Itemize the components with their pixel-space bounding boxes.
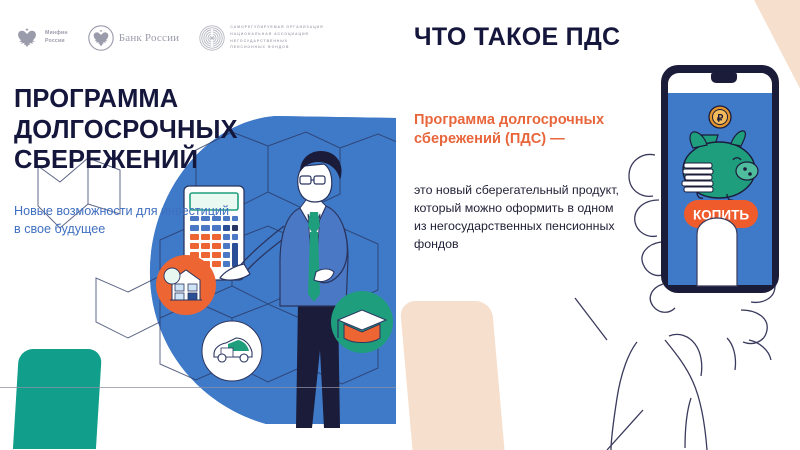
logo-bar: Минфин России Банк России bbox=[14, 24, 324, 51]
concentric-rings-emblem bbox=[199, 25, 225, 51]
svg-text:₽: ₽ bbox=[717, 114, 724, 125]
slide-canvas: Минфин России Банк России bbox=[0, 0, 800, 450]
coin-stack-icon bbox=[682, 163, 713, 192]
graduation-cap-badge-graphic bbox=[331, 291, 393, 353]
bank-rossii-logo-caption: Банк России bbox=[119, 32, 180, 44]
fingertip-shape bbox=[697, 218, 737, 286]
section-title: ЧТО ТАКОЕ ПДС bbox=[414, 23, 620, 52]
definition-body: это новый сберегательный продукт, которы… bbox=[414, 182, 629, 253]
ruble-coin-icon: ₽ bbox=[709, 106, 731, 128]
horizontal-rule bbox=[0, 387, 397, 388]
sro-napf-logo: САМОРЕГУЛИРУЕМАЯ ОРГАНИЗАЦИЯ НАЦИОНАЛЬНА… bbox=[199, 24, 323, 51]
left-panel: Минфин России Банк России bbox=[0, 0, 397, 450]
panel-divider bbox=[396, 0, 397, 450]
page-subtitle: Новые возможности для инвестиций в свое … bbox=[14, 203, 234, 239]
teal-accent-shape bbox=[13, 349, 102, 449]
page-title: ПРОГРАММА ДОЛГОСРОЧНЫХ СБЕРЕЖЕНИЙ bbox=[14, 84, 344, 176]
definition-lead: Программа долгосрочных сбережений (ПДС) … bbox=[414, 111, 654, 149]
minfin-logo: Минфин России bbox=[14, 25, 68, 51]
smartphone-mockup: ₽ bbox=[661, 65, 779, 293]
car-badge-graphic bbox=[202, 321, 262, 381]
sro-napf-logo-caption: САМОРЕГУЛИРУЕМАЯ ОРГАНИЗАЦИЯ НАЦИОНАЛЬНА… bbox=[230, 24, 323, 51]
double-headed-eagle-emblem bbox=[88, 25, 114, 51]
double-headed-eagle-emblem bbox=[14, 25, 40, 51]
house-badge-graphic bbox=[156, 255, 216, 315]
minfin-logo-caption: Минфин России bbox=[45, 30, 68, 45]
bank-rossii-logo: Банк России bbox=[88, 25, 180, 51]
right-panel: ₽ bbox=[397, 0, 800, 450]
